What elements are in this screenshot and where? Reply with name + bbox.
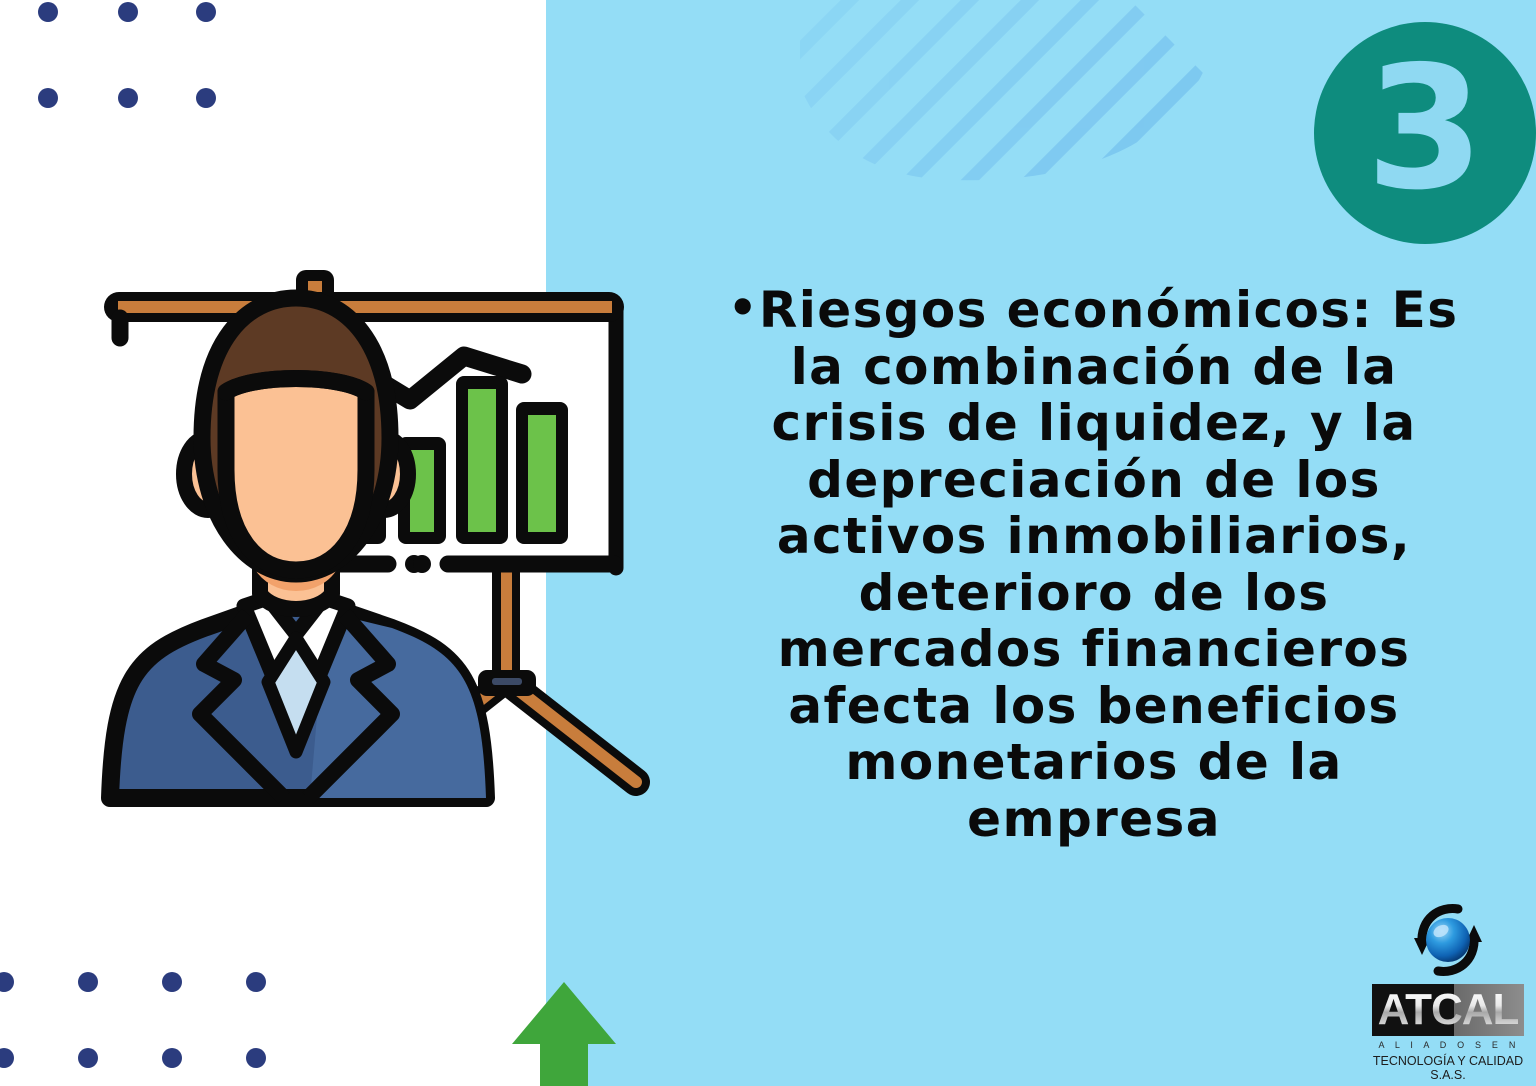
decor-dot — [246, 972, 266, 992]
green-up-arrow — [508, 978, 620, 1086]
atcal-logo: ATCAL A L I A D O S E N TECNOLOGÍA Y CAL… — [1368, 900, 1528, 1080]
decor-dot — [118, 88, 138, 108]
decor-dot — [78, 972, 98, 992]
text-line-content: Riesgos económicos: Es — [759, 281, 1459, 339]
decor-dot — [162, 972, 182, 992]
decor-dot — [78, 1048, 98, 1068]
text-line: crisis de liquidez, y la — [722, 395, 1466, 452]
decor-dot — [246, 1048, 266, 1068]
text-line: mercados financieros — [722, 621, 1466, 678]
decor-dot — [118, 2, 138, 22]
step-number-badge: 3 — [1314, 22, 1536, 244]
text-line: monetarios de la — [722, 734, 1466, 791]
atcal-tagline-main: TECNOLOGÍA Y CALIDAD S.A.S. — [1370, 1054, 1526, 1082]
decor-dot — [196, 88, 216, 108]
text-line: •Riesgos económicos: Es — [728, 282, 1466, 339]
step-number: 3 — [1366, 44, 1484, 214]
atcal-wordmark-text: ATCAL — [1378, 988, 1519, 1032]
decor-dot — [38, 88, 58, 108]
atcal-tagline-small: A L I A D O S E N — [1374, 1040, 1524, 1050]
text-line: deterioro de los — [722, 565, 1466, 622]
body-text-block: •Riesgos económicos: Es la combinación d… — [722, 282, 1466, 847]
slide-canvas: 3 — [0, 0, 1536, 1086]
text-line: afecta los beneficios — [722, 678, 1466, 735]
text-line: la combinación de la — [722, 339, 1466, 396]
decor-dot — [162, 1048, 182, 1068]
decor-dot — [196, 2, 216, 22]
text-line: depreciación de los — [722, 452, 1466, 509]
atcal-wordmark-box: ATCAL — [1372, 984, 1524, 1036]
atcal-sphere-icon — [1400, 900, 1496, 980]
text-line: empresa — [722, 791, 1466, 848]
text-line: activos inmobiliarios, — [722, 508, 1466, 565]
decor-dot — [38, 2, 58, 22]
businessman-presentation-illustration — [96, 262, 716, 822]
bullet-glyph: • — [728, 280, 759, 334]
